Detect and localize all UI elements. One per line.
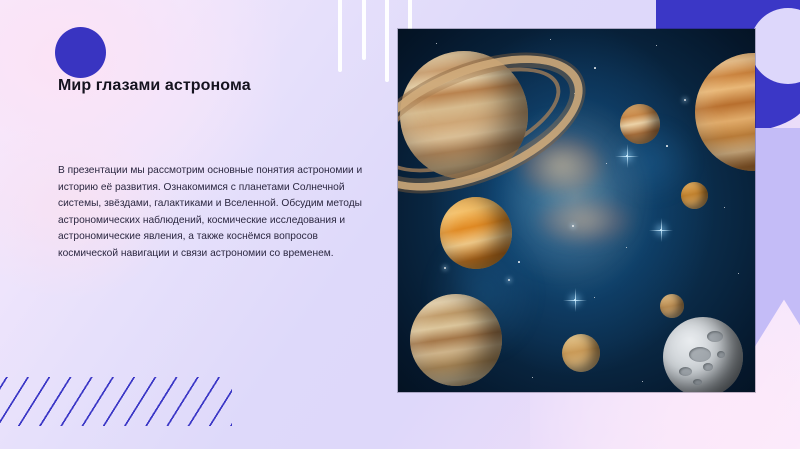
planet-tan-bottom-left xyxy=(410,294,502,386)
moon-crater xyxy=(693,379,702,385)
white-bar xyxy=(362,0,366,60)
slide-title: Мир глазами астронома xyxy=(58,77,378,95)
presentation-slide: Мир глазами астронома В презентации мы р… xyxy=(0,0,800,449)
moon-crater xyxy=(703,363,713,371)
planet-small-bottom-center xyxy=(562,334,600,372)
moon-crater xyxy=(679,367,692,376)
white-bar xyxy=(338,0,342,72)
blue-circle-decoration xyxy=(55,27,106,78)
moon-crater xyxy=(717,351,725,358)
planet-small-top-right xyxy=(620,104,660,144)
slide-body-text: В презентации мы рассмотрим основные пон… xyxy=(58,163,380,263)
planet-tiny-right xyxy=(681,182,708,209)
planet-orange-mid-left xyxy=(440,197,512,269)
moon-crater xyxy=(689,347,711,362)
diagonal-hatch-decoration xyxy=(0,377,232,426)
saturn-ring-outer xyxy=(398,29,602,218)
planet-small-right-lower xyxy=(660,294,684,318)
space-scene-image xyxy=(398,29,755,392)
planet-moon xyxy=(663,317,743,392)
lavender-ribbon-decoration xyxy=(754,128,800,348)
moon-crater xyxy=(707,331,723,342)
white-bar xyxy=(385,0,389,82)
